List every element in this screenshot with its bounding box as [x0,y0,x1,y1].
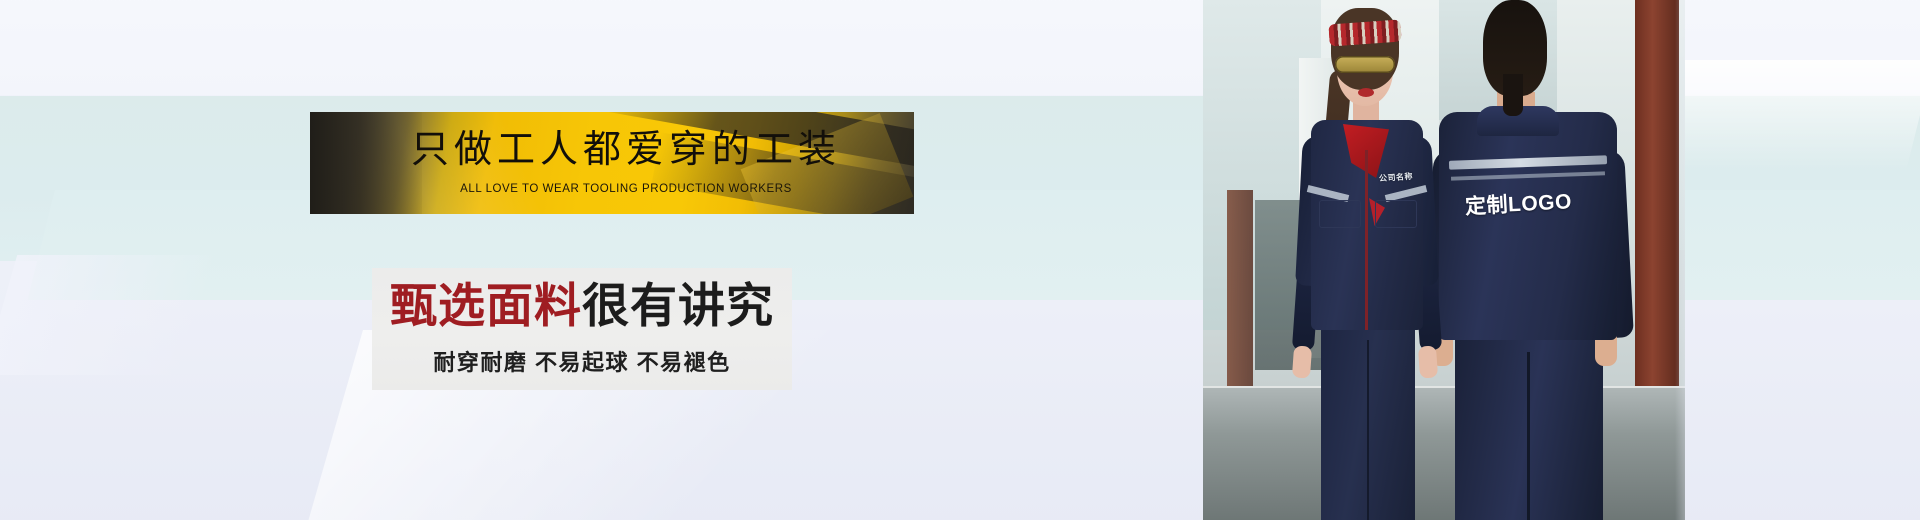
model-female-hand-right [1418,345,1438,378]
model-male-pants-seam [1527,352,1530,520]
headline-plaque: 只做工人都爱穿的工装 ALL LOVE TO WEAR TOOLING PROD… [310,112,914,214]
feature-headline-normal: 很有讲究 [582,279,774,332]
banner-stage: 只做工人都爱穿的工装 ALL LOVE TO WEAR TOOLING PROD… [0,0,1920,520]
feature-subtext: 耐穿耐磨 不易起球 不易褪色 [372,352,792,374]
headline-subtitle: ALL LOVE TO WEAR TOOLING PRODUCTION WORK… [460,183,792,195]
model-female-pocket-left [1319,200,1361,228]
sunglasses-icon [1335,56,1395,73]
model-female-lips [1358,88,1374,97]
feature-plaque: 甄选面料很有讲究 耐穿耐磨 不易起球 不易褪色 [372,268,792,390]
model-female-hand-left [1292,345,1312,378]
product-photo: 定制LOGO 公司名称 [1203,0,1685,520]
uniform-back-logo-text: 定制LOGO [1464,185,1572,221]
photo-brown-pillar-left [1227,190,1253,390]
photo-right-fade [1675,0,1685,520]
feature-headline-row: 甄选面料很有讲究 [372,282,792,329]
headline-title: 只做工人都爱穿的工装 [411,131,841,169]
background-sheen-corner [0,255,217,375]
photo-ground [1203,388,1685,520]
plaque-text-group: 只做工人都爱穿的工装 ALL LOVE TO WEAR TOOLING PROD… [310,112,914,214]
uniform-chest-label-text: 公司名称 [1379,171,1414,184]
background-sheen-right [1646,60,1920,170]
model-male-hair-tie [1503,74,1523,116]
model-female-zipper [1365,150,1368,330]
feature-headline-highlight: 甄选面料 [390,279,582,332]
model-female-pants-seam [1367,340,1369,520]
photo-brown-pillar-right [1635,0,1679,400]
model-female-pocket-right [1375,200,1417,228]
model-male-jacket [1439,112,1617,340]
